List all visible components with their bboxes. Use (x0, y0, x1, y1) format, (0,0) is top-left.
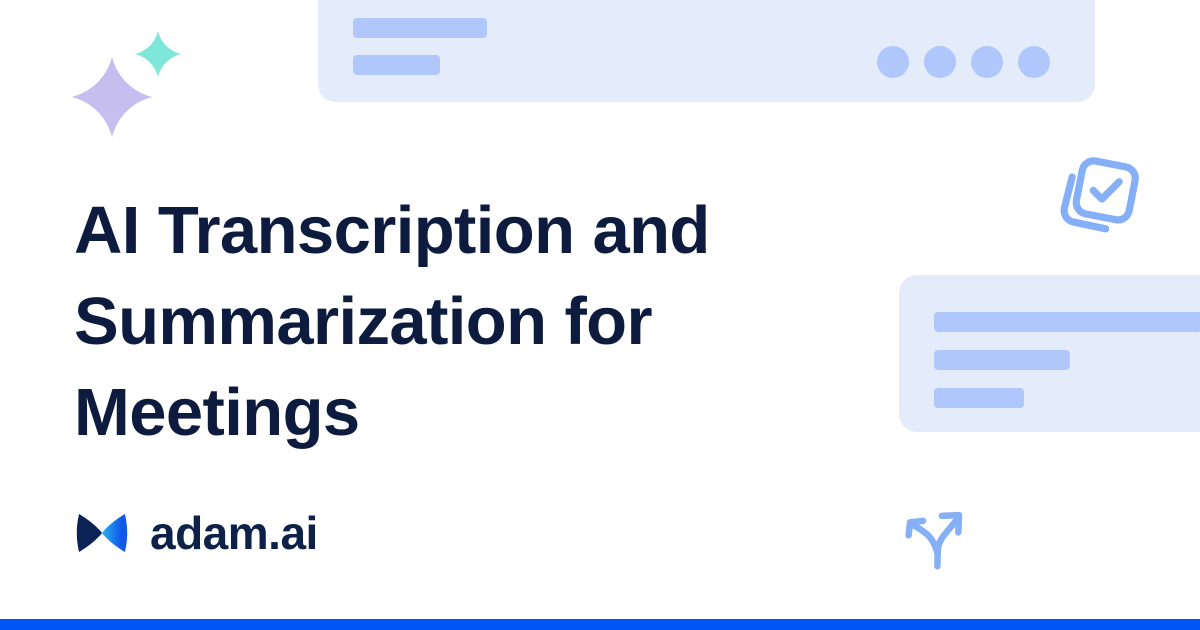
adam-ai-butterfly-mark-icon (74, 505, 130, 561)
avatar (971, 46, 1003, 78)
sparkle-diamond-small-icon (134, 30, 182, 78)
placeholder-bar-short (353, 55, 440, 75)
avatar (924, 46, 956, 78)
brand-wordmark: adam.ai (150, 510, 318, 556)
avatar (877, 46, 909, 78)
page-title: AI Transcription and Summarization for M… (74, 185, 834, 458)
brand-logo[interactable]: adam.ai (74, 505, 318, 561)
placeholder-bar-2 (934, 350, 1070, 370)
skeleton-card-top (318, 0, 1095, 102)
placeholder-bar-3 (934, 388, 1024, 408)
branching-arrows-icon (900, 500, 972, 572)
promo-banner: AI Transcription and Summarization for M… (0, 0, 1200, 630)
stacked-checkbox-icon (1052, 152, 1148, 248)
skeleton-card-right (899, 275, 1200, 432)
placeholder-bar-1 (934, 312, 1200, 332)
placeholder-bar-long (353, 18, 487, 38)
avatar (1018, 46, 1050, 78)
bottom-accent-rule (0, 619, 1200, 630)
